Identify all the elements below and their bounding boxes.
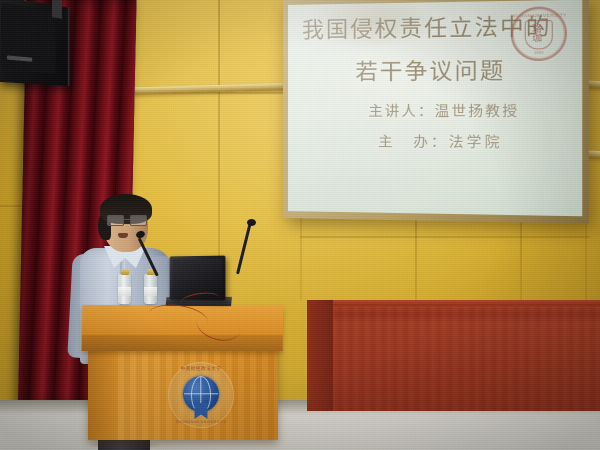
slide-presenter-line: 主讲人：温世扬教授 <box>310 101 582 122</box>
glasses-lens-right <box>130 215 147 226</box>
podium-university-emblem-icon: 中南财经政法大学 ZHONGNAN UNIVERSITY <box>168 362 234 428</box>
microphone-capsule <box>247 219 256 226</box>
loudspeaker-bracket <box>52 0 62 19</box>
university-seal-shield: 珞珈 <box>525 20 553 50</box>
podium-emblem-arc-top: 中南财经政法大学 <box>181 366 222 372</box>
head-table-end-panel <box>307 300 333 411</box>
bottle-cap <box>121 269 129 275</box>
glasses-bridge <box>122 219 130 220</box>
loudspeaker-grille <box>1 3 56 74</box>
lecture-hall-scene: 我国侵权责任立法中的 若干争议问题 主讲人：温世扬教授 主 办：法学院 WUHA… <box>0 0 600 450</box>
laptop-screen <box>172 259 221 296</box>
university-seal-arc-text: WUHAN UNIVERSITY <box>511 12 567 18</box>
projection-screen: 我国侵权责任立法中的 若干争议问题 主讲人：温世扬教授 主 办：法学院 WUHA… <box>288 0 582 216</box>
podium-emblem-arc-bottom: ZHONGNAN UNIVERSITY <box>176 420 227 424</box>
bottle-label <box>144 287 157 296</box>
bottle-label <box>118 287 131 296</box>
head-table <box>307 306 600 411</box>
podium-left-face <box>88 344 118 440</box>
head-table-woodgrain <box>307 306 600 411</box>
podium-top-front-edge <box>82 335 283 351</box>
slide-organizer-line: 主 办：法学院 <box>310 131 576 153</box>
presenter-glasses-icon <box>107 215 145 224</box>
water-bottle <box>144 274 157 304</box>
wall-panel-seam <box>300 236 590 238</box>
university-seal-glyph: 珞珈 <box>532 25 545 44</box>
university-seal-icon: WUHAN UNIVERSITY 珞珈 1893 <box>511 6 567 61</box>
glasses-lens-left <box>107 215 124 226</box>
university-seal-year: 1893 <box>534 49 544 54</box>
water-bottle <box>118 274 131 304</box>
projection-screen-frame: 我国侵权责任立法中的 若干争议问题 主讲人：温世扬教授 主 办：法学院 WUHA… <box>283 0 589 224</box>
emblem-ribbon <box>195 403 208 419</box>
presenter-mouth <box>118 233 128 238</box>
